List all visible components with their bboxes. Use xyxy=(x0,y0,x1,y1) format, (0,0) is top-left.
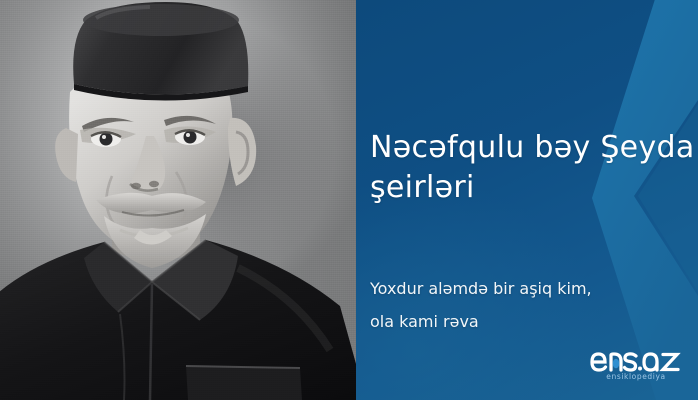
poem-excerpt: Yoxdur aləmdə bir aşiq kim, ola kami rəv… xyxy=(370,272,690,338)
ens-az-logo[interactable]: ensiklopediya xyxy=(588,342,684,382)
text-panel: Nəcəfqulu bəy Şeyda şeirləri Yoxdur aləm… xyxy=(356,0,698,400)
photo-grain-overlay xyxy=(0,0,356,400)
logo-tagline: ensiklopediya xyxy=(606,372,665,381)
page-title: Nəcəfqulu bəy Şeyda şeirləri xyxy=(370,128,698,208)
logo-artwork: ensiklopediya xyxy=(588,342,684,382)
banner-image: Nəcəfqulu bəy Şeyda şeirləri Yoxdur aləm… xyxy=(0,0,698,400)
portrait-photo xyxy=(0,0,356,400)
